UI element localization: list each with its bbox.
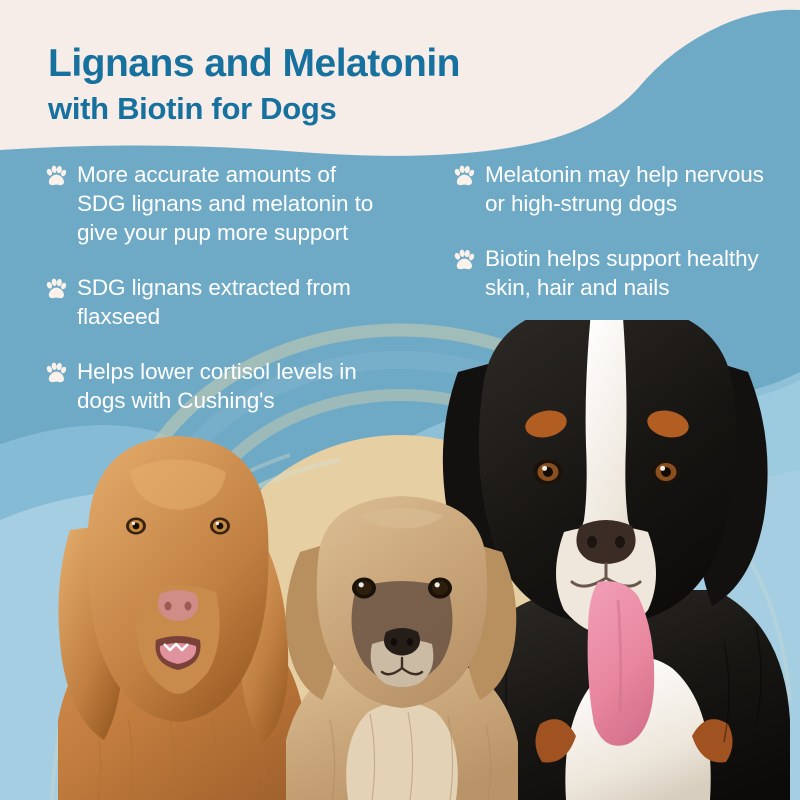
list-item-label: Melatonin may help nervous or high-strun… [485, 160, 780, 218]
benefits-list: More accurate amounts of SDG lignans and… [0, 160, 800, 441]
list-item: Helps lower cortisol levels in dogs with… [44, 357, 390, 415]
header-text-block: Lignans and Melatonin with Biotin for Do… [48, 42, 460, 127]
benefits-column-left: More accurate amounts of SDG lignans and… [0, 160, 400, 441]
paw-print-icon [44, 277, 68, 301]
paw-print-icon [452, 248, 476, 272]
infographic-poster: Lignans and Melatonin with Biotin for Do… [0, 0, 800, 800]
golden-retriever-mix-dog [58, 436, 306, 800]
page-title: Lignans and Melatonin [48, 42, 460, 86]
paw-print-icon [452, 164, 476, 188]
paw-print-icon [44, 164, 68, 188]
list-item: More accurate amounts of SDG lignans and… [44, 160, 390, 247]
list-item: Melatonin may help nervous or high-strun… [452, 160, 780, 218]
list-item-label: More accurate amounts of SDG lignans and… [77, 160, 390, 247]
page-subtitle: with Biotin for Dogs [48, 90, 460, 127]
list-item-label: SDG lignans extracted from flaxseed [77, 273, 390, 331]
list-item-label: Biotin helps support healthy skin, hair … [485, 244, 780, 302]
list-item-label: Helps lower cortisol levels in dogs with… [77, 357, 390, 415]
paw-print-icon [44, 361, 68, 385]
list-item: SDG lignans extracted from flaxseed [44, 273, 390, 331]
list-item: Biotin helps support healthy skin, hair … [452, 244, 780, 302]
